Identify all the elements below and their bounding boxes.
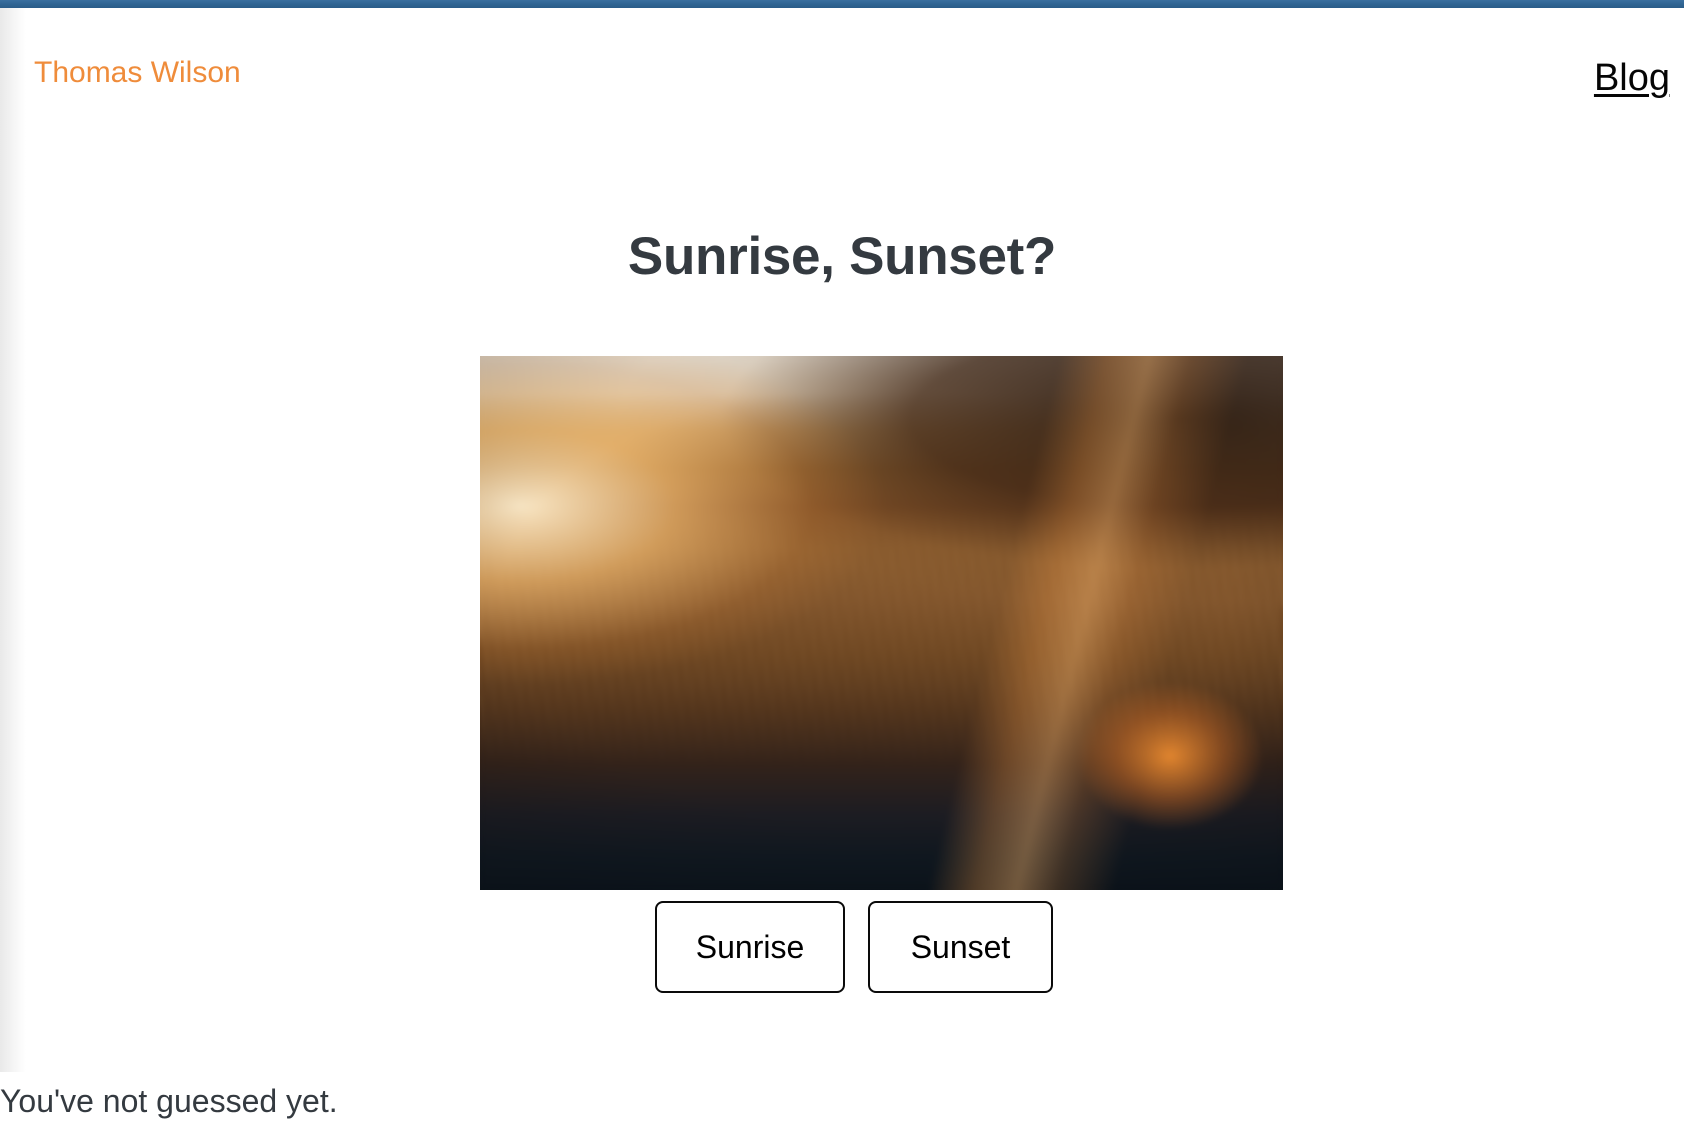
- answer-button-group: Sunrise Sunset: [655, 901, 1055, 997]
- sunset-button[interactable]: Sunset: [868, 901, 1053, 993]
- top-accent-bar: [0, 0, 1684, 8]
- main-content: Sunrise, Sunset? Sunrise Sunset You've n…: [0, 128, 1684, 1072]
- page-title: Sunrise, Sunset?: [0, 226, 1684, 288]
- site-header: Thomas Wilson Blog: [0, 8, 1684, 128]
- guess-status-text: You've not guessed yet.: [0, 1081, 338, 1121]
- brand-link[interactable]: Thomas Wilson: [34, 54, 241, 92]
- sunrise-button[interactable]: Sunrise: [655, 901, 845, 993]
- sunset-photo: [480, 356, 1283, 890]
- photo-image: [480, 356, 1283, 890]
- main-nav: Blog: [1384, 54, 1684, 114]
- nav-item-blog[interactable]: Blog: [1594, 54, 1670, 102]
- page-container: Thomas Wilson Blog Sunrise, Sunset? Sunr…: [0, 8, 1684, 1072]
